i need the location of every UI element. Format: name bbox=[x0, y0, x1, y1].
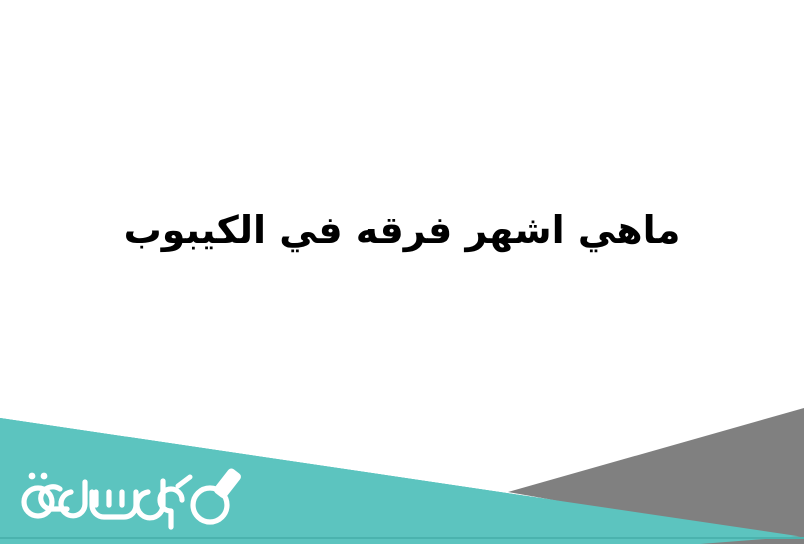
letter-waw-1 bbox=[61, 482, 85, 516]
letter-seen-teeth bbox=[96, 492, 122, 505]
hamza-accent bbox=[178, 477, 190, 486]
brand-logo-mark bbox=[14, 456, 266, 534]
letter-meem bbox=[160, 489, 182, 527]
dot-left bbox=[29, 473, 36, 480]
article-cover-card: ماهي اشهر فرقه في الكيبوب bbox=[0, 0, 804, 544]
magnifier-handle-icon bbox=[212, 467, 242, 500]
dot-right bbox=[41, 473, 48, 480]
ta-marbuta-dots bbox=[29, 473, 48, 480]
letter-ta-marbuta bbox=[24, 488, 52, 516]
page-title-text: ماهي اشهر فرقه في الكيبوب bbox=[124, 207, 681, 255]
teal-baseline-strip bbox=[0, 537, 804, 539]
page-title: ماهي اشهر فرقه في الكيبوب bbox=[0, 196, 804, 266]
brand-logo[interactable] bbox=[14, 456, 266, 534]
brand-wordmark-strokes bbox=[24, 481, 227, 527]
